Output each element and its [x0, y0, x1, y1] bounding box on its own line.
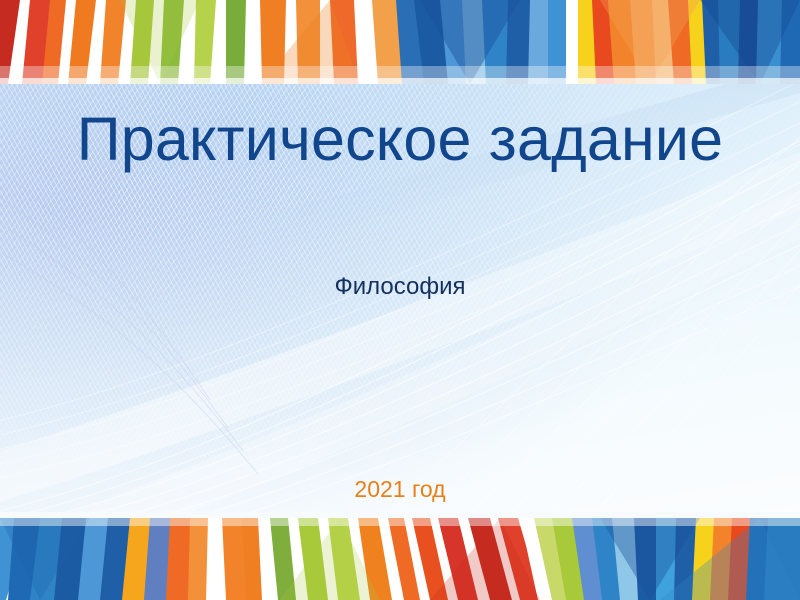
- top-shards-artwork: [0, 0, 800, 84]
- slide-subtitle: Философия: [0, 273, 800, 302]
- slide-year: 2021 год: [0, 476, 800, 504]
- slide-title: Практическое задание: [0, 107, 800, 173]
- top-decorative-band: [0, 0, 800, 84]
- title-slide: Практическое задание Философия 2021 год: [0, 0, 800, 600]
- bottom-decorative-band: [0, 512, 800, 600]
- bottom-shards-artwork: [0, 512, 800, 600]
